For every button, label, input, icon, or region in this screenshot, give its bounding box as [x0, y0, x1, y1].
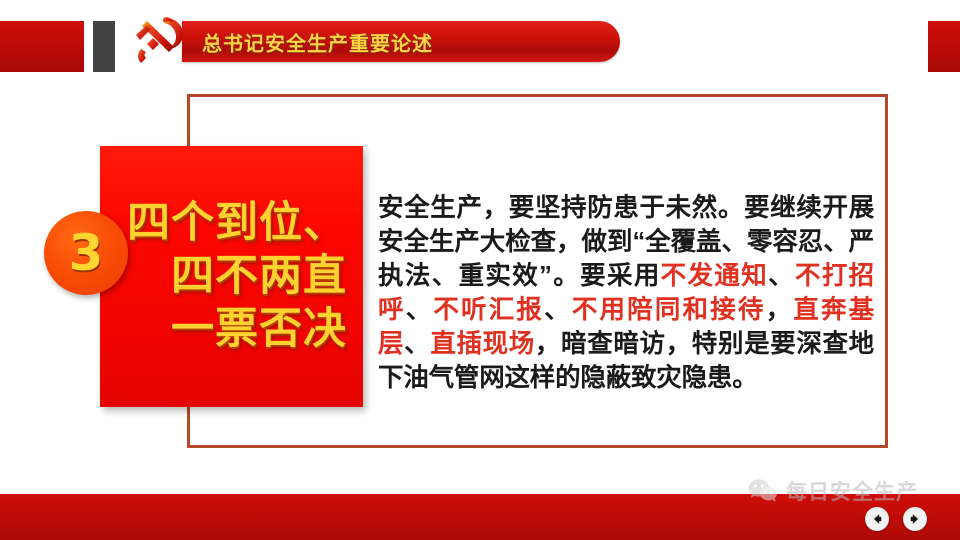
- slide-navigation: [865, 507, 927, 531]
- body-highlight-segment: 直插现场: [430, 330, 535, 358]
- header-left-red-block: [0, 21, 84, 72]
- header-gray-block: [93, 21, 115, 72]
- section-title-line-2: 四不两直: [171, 250, 347, 303]
- body-segment: 、: [406, 296, 434, 324]
- section-number-badge: 3: [44, 211, 128, 295]
- body-segment: 、: [544, 296, 572, 324]
- section-title-box: 四个到位、 四不两直 一票否决: [100, 146, 363, 407]
- arrow-right-icon: [908, 512, 922, 526]
- arrow-left-icon: [870, 512, 884, 526]
- section-title-line-1: 四个到位、: [127, 197, 347, 250]
- header-right-red-block: [928, 21, 960, 72]
- next-slide-button[interactable]: [903, 507, 927, 531]
- section-title-line-3: 一票否决: [171, 303, 347, 356]
- wechat-logo-icon: [748, 478, 778, 504]
- body-highlight-segment: 不听汇报: [433, 296, 544, 324]
- prev-slide-button[interactable]: [865, 507, 889, 531]
- body-highlight-segment: 不用陪同和接待: [572, 296, 766, 324]
- body-paragraph: 安全生产，要坚持防患于未然。要继续开展安全生产大检查，做到“全覆盖、零容忍、严执…: [378, 192, 874, 395]
- header-banner-title: 总书记安全生产重要论述: [202, 27, 433, 56]
- body-highlight-segment: 不发通知: [661, 262, 768, 290]
- cpc-emblem-icon: [128, 12, 192, 72]
- header-banner: 总书记安全生产重要论述: [182, 21, 620, 62]
- watermark-text: 每日安全生产: [786, 476, 918, 506]
- section-number-value: 3: [69, 228, 104, 278]
- body-segment: ，: [766, 296, 794, 324]
- presentation-slide: 总书记安全生产重要论述 四个到: [0, 0, 960, 540]
- body-segment: 、: [768, 262, 795, 290]
- body-segment: 、: [404, 330, 430, 358]
- watermark: 每日安全生产: [748, 476, 918, 506]
